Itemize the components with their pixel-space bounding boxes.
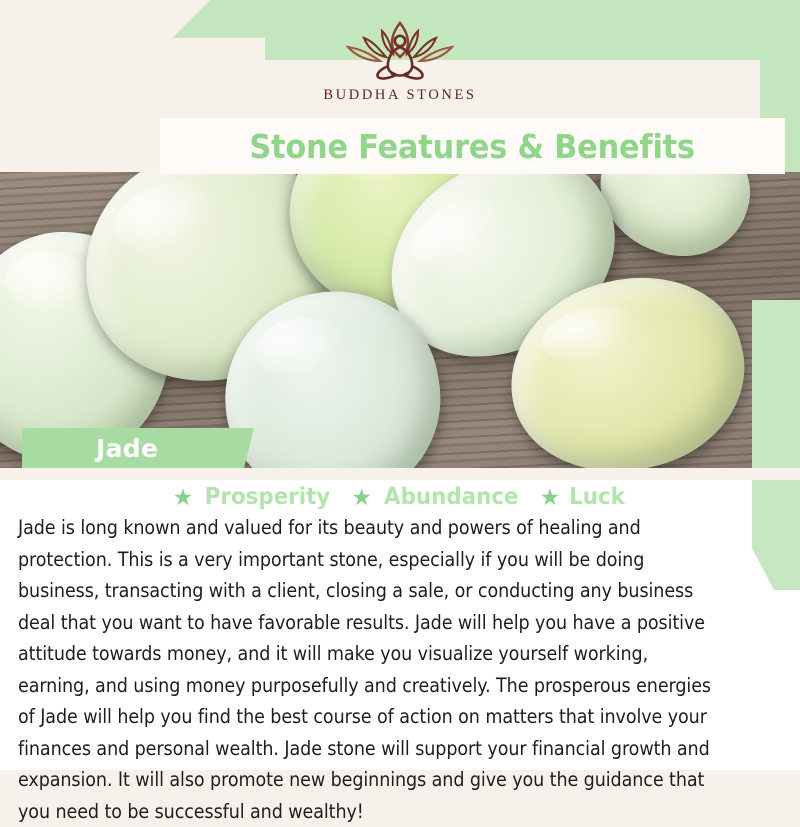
star-icon: ★ bbox=[173, 486, 194, 509]
benefits-row: ★ Prosperity ★ Abundance ★ Luck bbox=[0, 480, 800, 514]
page-title-panel: Stone Features & Benefits bbox=[160, 118, 785, 174]
benefit-abundance: ★ Abundance bbox=[351, 484, 523, 510]
benefit-label: Prosperity bbox=[205, 484, 331, 510]
star-icon: ★ bbox=[351, 486, 372, 509]
decorative-green-bar-right bbox=[752, 300, 800, 590]
brand-name: BUDDHA STONES bbox=[323, 87, 476, 104]
brand-header: BUDDHA STONES bbox=[0, 0, 800, 120]
stone-name-banner: Jade bbox=[22, 428, 254, 468]
page-title: Stone Features & Benefits bbox=[250, 127, 696, 166]
stone-name-label: Jade bbox=[96, 434, 158, 463]
jade-stones-photo bbox=[0, 172, 800, 468]
stone-description-text: Jade is long known and valued for its be… bbox=[18, 512, 715, 827]
benefit-label: Abundance bbox=[384, 484, 518, 510]
star-icon: ★ bbox=[540, 486, 561, 509]
benefit-prosperity: ★ Prosperity bbox=[173, 484, 336, 510]
benefit-label: Luck bbox=[569, 484, 625, 510]
benefit-luck: ★ Luck bbox=[540, 484, 628, 510]
lotus-meditation-icon bbox=[330, 17, 470, 83]
cream-divider-strip bbox=[0, 468, 800, 480]
